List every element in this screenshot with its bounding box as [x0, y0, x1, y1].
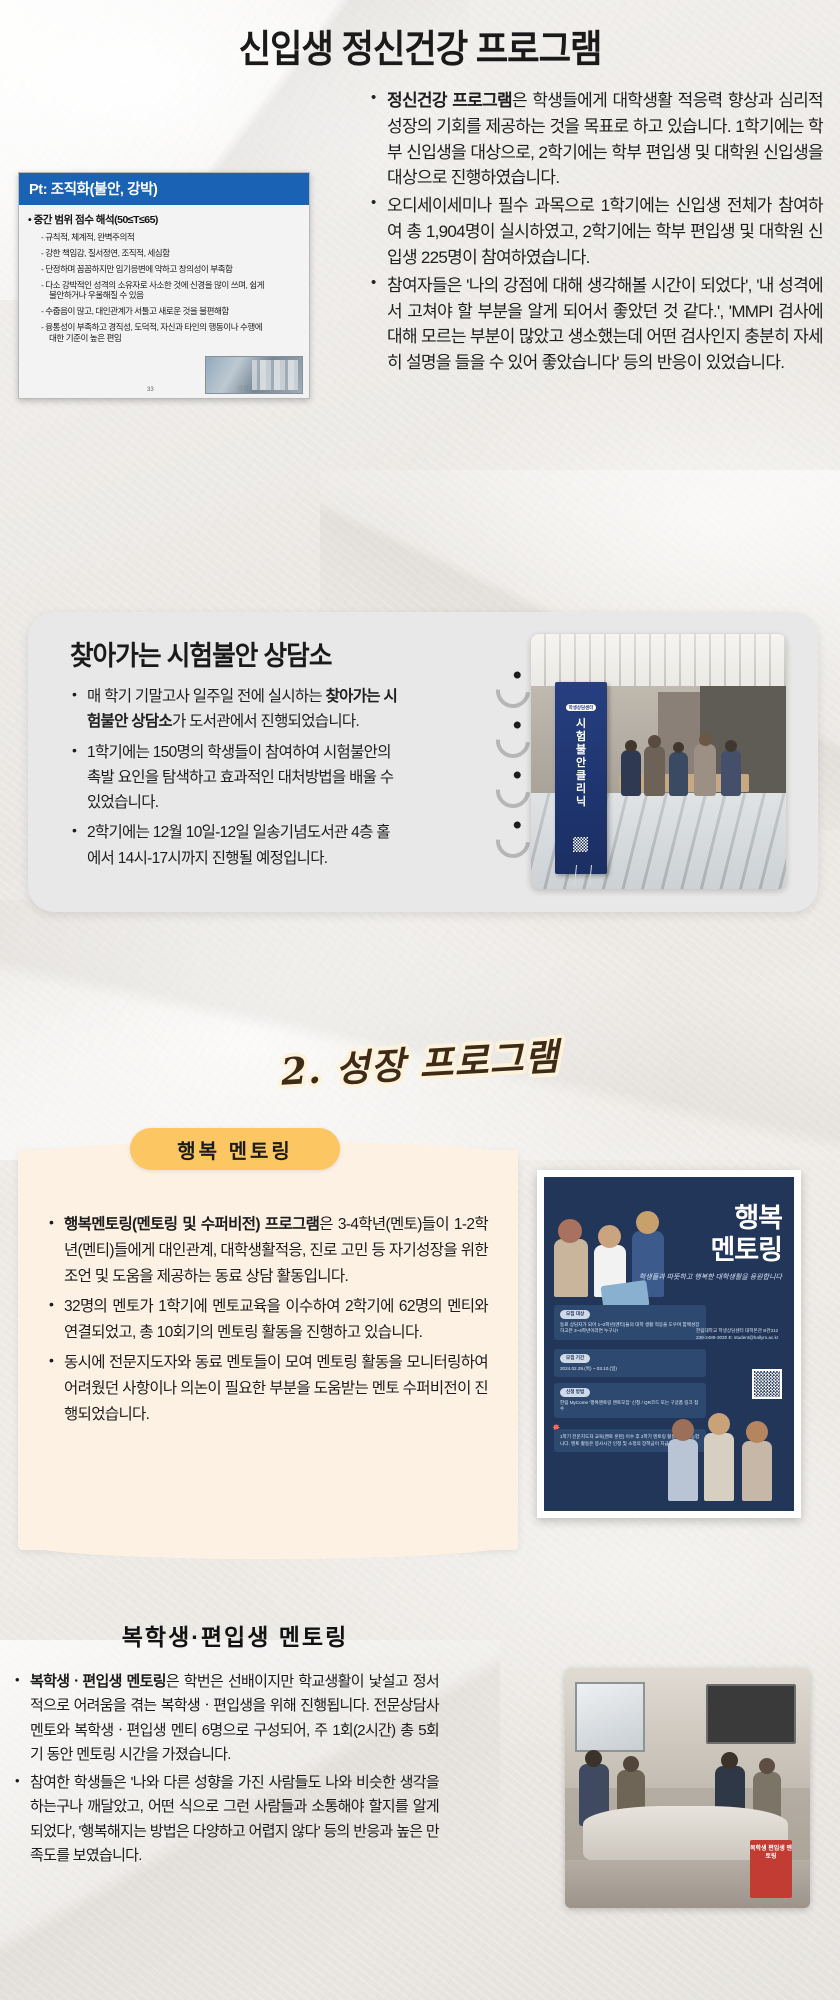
poster-inner: 행복 멘토링 학생들과 따뜻하고 행복한 대학생활을 응원합니다 모집 대상 동… — [544, 1177, 794, 1511]
bullet-text: 참여한 학생들은 '나와 다른 성향을 가진 사람들도 나와 비슷한 생각을 하… — [30, 1774, 439, 1864]
banner-char: 안 — [576, 757, 586, 770]
section2-title: 찾아가는 시험불안 상담소 — [70, 634, 331, 673]
poster-title-line1: 행복 — [710, 1203, 782, 1235]
poster-figure-head — [746, 1421, 768, 1443]
list-item: 참여한 학생들은 '나와 다른 성향을 가진 사람들도 나와 비슷한 생각을 하… — [14, 1771, 439, 1868]
mentoring-room-photo: 복학생 편입생 멘토링 — [565, 1668, 810, 1908]
poster-box-tag: 신청 방법 — [560, 1388, 590, 1397]
poster-box-text: 2024.02.29.(목) ~ 03.10.(일) — [560, 1366, 700, 1373]
banner-char: 리 — [576, 783, 586, 796]
mmpi-slide-image: Pt: 조직화(불안, 강박) 중간 범위 점수 해석(50≤T≤65) 규칙적… — [18, 172, 310, 399]
clinic-banner: 학생상담센터 시 험 불 안 클 리 닉 — [555, 682, 607, 874]
slide-bullet: 다소 강박적인 성격의 소유자로 사소한 것에 신경을 많이 쓰며, 쉽게불안하… — [41, 280, 301, 301]
poster-figure-head — [558, 1219, 582, 1243]
list-item: 1학기에는 150명의 학생들이 참여하여 시험불안의 촉발 요인을 탐색하고 … — [70, 740, 400, 816]
poster-box-tag: 모집 대상 — [560, 1310, 590, 1319]
slide-bullet: 단정하며 꼼꼼하지만 임기응변에 약하고 창의성이 부족함 — [41, 264, 301, 274]
qr-code-icon — [752, 1369, 782, 1399]
slide-body: 중간 범위 점수 해석(50≤T≤65) 규칙적, 체계적, 완벽주의적 강한 … — [19, 205, 309, 343]
slide-page-number: 33 — [147, 387, 154, 393]
bullet-text: 참여자들은 '나의 강점에 대해 생각해볼 시간이 되었다', '내 성격에서 … — [387, 276, 823, 372]
photo-person — [621, 750, 641, 796]
poster-page: 신입생 정신건강 프로그램 Pt: 조직화(불안, 강박) 중간 범위 점수 해… — [0, 0, 840, 2000]
banner-char: 험 — [576, 731, 586, 744]
slide-bullet-text: 융통성이 부족하고 경직성, 도덕적, 자신과 타인의 행동이나 수행에 — [45, 322, 262, 332]
section3-bullet-list: 행복멘토링(멘토링 및 수퍼비전) 프로그램은 3-4학년(멘토)들이 1-2학… — [48, 1212, 488, 1432]
photo-person-head — [648, 735, 661, 748]
poster-figure — [554, 1239, 588, 1297]
list-item: 복학생ㆍ편입생 멘토링은 학번은 선배이지만 학교생활이 낯설고 정서적으로 어… — [14, 1670, 439, 1767]
bullet-text: 1학기에는 150명의 학생들이 참여하여 시험불안의 촉발 요인을 탐색하고 … — [87, 744, 393, 812]
photo-person-head — [725, 740, 737, 752]
list-item: 행복멘토링(멘토링 및 수퍼비전) 프로그램은 3-4학년(멘토)들이 1-2학… — [48, 1212, 488, 1290]
growth-program-heading: 2. 성장 프로그램 — [0, 1011, 840, 1112]
happy-mentoring-poster: 행복 멘토링 학생들과 따뜻하고 행복한 대학생활을 응원합니다 모집 대상 동… — [537, 1170, 801, 1518]
poster-figure — [742, 1441, 772, 1501]
section2-bullet-list: 매 학기 기말고사 일주일 전에 실시하는 찾아가는 시험불안 상담소가 도서관… — [70, 684, 400, 876]
poster-subtitle: 학생들과 따뜻하고 행복한 대학생활을 응원합니다 — [639, 1273, 782, 1284]
photo-person — [644, 746, 665, 796]
bullet-emphasis: 행복멘토링(멘토링 및 수퍼비전) 프로그램 — [64, 1216, 319, 1233]
slide-bullet: 융통성이 부족하고 경직성, 도덕적, 자신과 타인의 행동이나 수행에대한 기… — [41, 322, 301, 343]
poster-figure-head — [708, 1413, 730, 1435]
bullet-text-tail: 가 도서관에서 진행되었습니다. — [172, 713, 359, 730]
slide-bullet-cont: 불안하거나 우울해질 수 있음 — [49, 290, 301, 300]
photo-desk-banner: 복학생 편입생 멘토링 — [750, 1840, 792, 1898]
banner-org-label: 학생상담센터 — [566, 704, 597, 711]
photo-person — [694, 744, 716, 796]
slide-header: Pt: 조직화(불안, 강박) — [19, 173, 309, 205]
slide-bullet: 강한 책임감, 질서정연, 조직적, 세심함 — [41, 248, 301, 258]
banner-char: 클 — [576, 770, 586, 783]
happy-mentoring-card: 행복멘토링(멘토링 및 수퍼비전) 프로그램은 3-4학년(멘토)들이 1-2학… — [18, 1150, 518, 1550]
slide-bullet: 규칙적, 체계적, 완벽주의적 — [41, 232, 301, 242]
poster-figure — [704, 1433, 734, 1501]
poster-box-tag: 모집 기간 — [560, 1354, 590, 1363]
bullet-text: 2학기에는 12월 10일-12일 일송기념도서관 4층 홀에서 14시-17시… — [87, 824, 390, 866]
poster-contact-info: 한림대학교 학생상담센터 대학본관 B관312 239-2488-3030 E:… — [696, 1327, 784, 1342]
poster-illustration-group-bottom — [668, 1409, 788, 1505]
photo-person-head — [585, 1750, 602, 1767]
banner-char: 시 — [576, 718, 586, 731]
poster-figure — [668, 1439, 698, 1501]
bullet-text: 오디세이세미나 필수 과목으로 1학기에는 신입생 전체가 참여하여 총 1,9… — [387, 196, 823, 267]
slide-bullet-text: 다소 강박적인 성격의 소유자로 사소한 것에 신경을 많이 쓰며, 쉽게 — [45, 280, 264, 290]
section4-title: 복학생·편입생 멘토링 — [0, 1618, 470, 1652]
photo-screen — [706, 1684, 796, 1744]
section1-description: 정신건강 프로그램은 학생들에게 대학생활 적응력 향상과 심리적 성장의 기회… — [368, 88, 823, 378]
list-item: 32명의 멘토가 1학기에 멘토교육을 이수하여 2학기에 62명의 멘티와 연… — [48, 1294, 488, 1346]
slide-bullet-cont: 대한 기준이 높은 편임 — [49, 333, 301, 343]
bullet-text: 매 학기 기말고사 일주일 전에 실시하는 — [87, 688, 326, 705]
bullet-text: 32명의 멘토가 1학기에 멘토교육을 이수하여 2학기에 62명의 멘티와 연… — [64, 1298, 488, 1341]
page-title: 신입생 정신건강 프로그램 — [29, 18, 810, 73]
poster-figure-head — [636, 1211, 659, 1234]
slide-thumbnail-photo — [205, 356, 303, 394]
slide-lead: 중간 범위 점수 해석(50≤T≤65) — [28, 212, 301, 227]
spiral-binding-decoration — [496, 668, 530, 858]
banner-stand — [574, 865, 592, 885]
happy-mentoring-pill-label: 행복 멘토링 — [130, 1128, 340, 1170]
poster-illustration-group-top — [552, 1205, 682, 1301]
photo-window — [575, 1682, 645, 1752]
exam-anxiety-card: 찾아가는 시험불안 상담소 매 학기 기말고사 일주일 전에 실시하는 찾아가는… — [28, 612, 818, 912]
exam-anxiety-clinic-photo: 학생상담센터 시 험 불 안 클 리 닉 — [531, 634, 786, 889]
photo-person-head — [699, 733, 712, 746]
poster-info-box-period: 모집 기간 2024.02.29.(목) ~ 03.10.(일) — [554, 1349, 706, 1377]
banner-char: 불 — [576, 744, 586, 757]
photo-person — [669, 752, 688, 796]
photo-person-head — [673, 742, 684, 753]
list-item: 매 학기 기말고사 일주일 전에 실시하는 찾아가는 시험불안 상담소가 도서관… — [70, 684, 400, 735]
list-item: 참여자들은 '나의 강점에 대해 생각해볼 시간이 되었다', '내 성격에서 … — [368, 273, 823, 376]
list-item: 정신건강 프로그램은 학생들에게 대학생활 적응력 향상과 심리적 성장의 기회… — [368, 88, 823, 191]
bullet-emphasis: 정신건강 프로그램 — [387, 91, 512, 110]
list-item: 2학기에는 12월 10일-12일 일송기념도서관 4층 홀에서 14시-17시… — [70, 820, 400, 871]
photo-person-head — [759, 1758, 775, 1774]
poster-figure-head — [672, 1419, 694, 1441]
poster-figure-head — [598, 1225, 621, 1248]
photo-person-head — [721, 1752, 738, 1769]
bullet-emphasis: 복학생ㆍ편입생 멘토링 — [30, 1673, 166, 1690]
photo-person — [721, 750, 741, 796]
qr-code-icon — [573, 837, 588, 852]
banner-char: 닉 — [576, 796, 586, 809]
poster-title: 행복 멘토링 — [710, 1203, 782, 1267]
poster-box-text: 동료 상담자가 되어 1~2학년(멘티)들의 대학 생활 적응을 도우며 함께성… — [560, 1322, 700, 1335]
bullet-text: 동시에 전문지도자와 동료 멘토들이 모여 멘토링 활동을 모니터링하여 어려웠… — [64, 1354, 488, 1423]
photo-person-head — [623, 1756, 639, 1772]
photo-person-head — [625, 740, 637, 752]
section4-bullet-list: 복학생ㆍ편입생 멘토링은 학번은 선배이지만 학교생활이 낯설고 정서적으로 어… — [14, 1670, 439, 1872]
slide-bullet: 수줍음이 많고, 대인관계가 서툴고 새로운 것을 불편해함 — [41, 306, 301, 316]
poster-info-box-target: 모집 대상 동료 상담자가 되어 1~2학년(멘티)들의 대학 생활 적응을 도… — [554, 1305, 706, 1340]
list-item: 오디세이세미나 필수 과목으로 1학기에는 신입생 전체가 참여하여 총 1,9… — [368, 193, 823, 270]
section1-bullet-list: 정신건강 프로그램은 학생들에게 대학생활 적응력 향상과 심리적 성장의 기회… — [368, 88, 823, 376]
poster-title-line2: 멘토링 — [710, 1235, 782, 1267]
list-item: 동시에 전문지도자와 동료 멘토들이 모여 멘토링 활동을 모니터링하여 어려웠… — [48, 1350, 488, 1428]
